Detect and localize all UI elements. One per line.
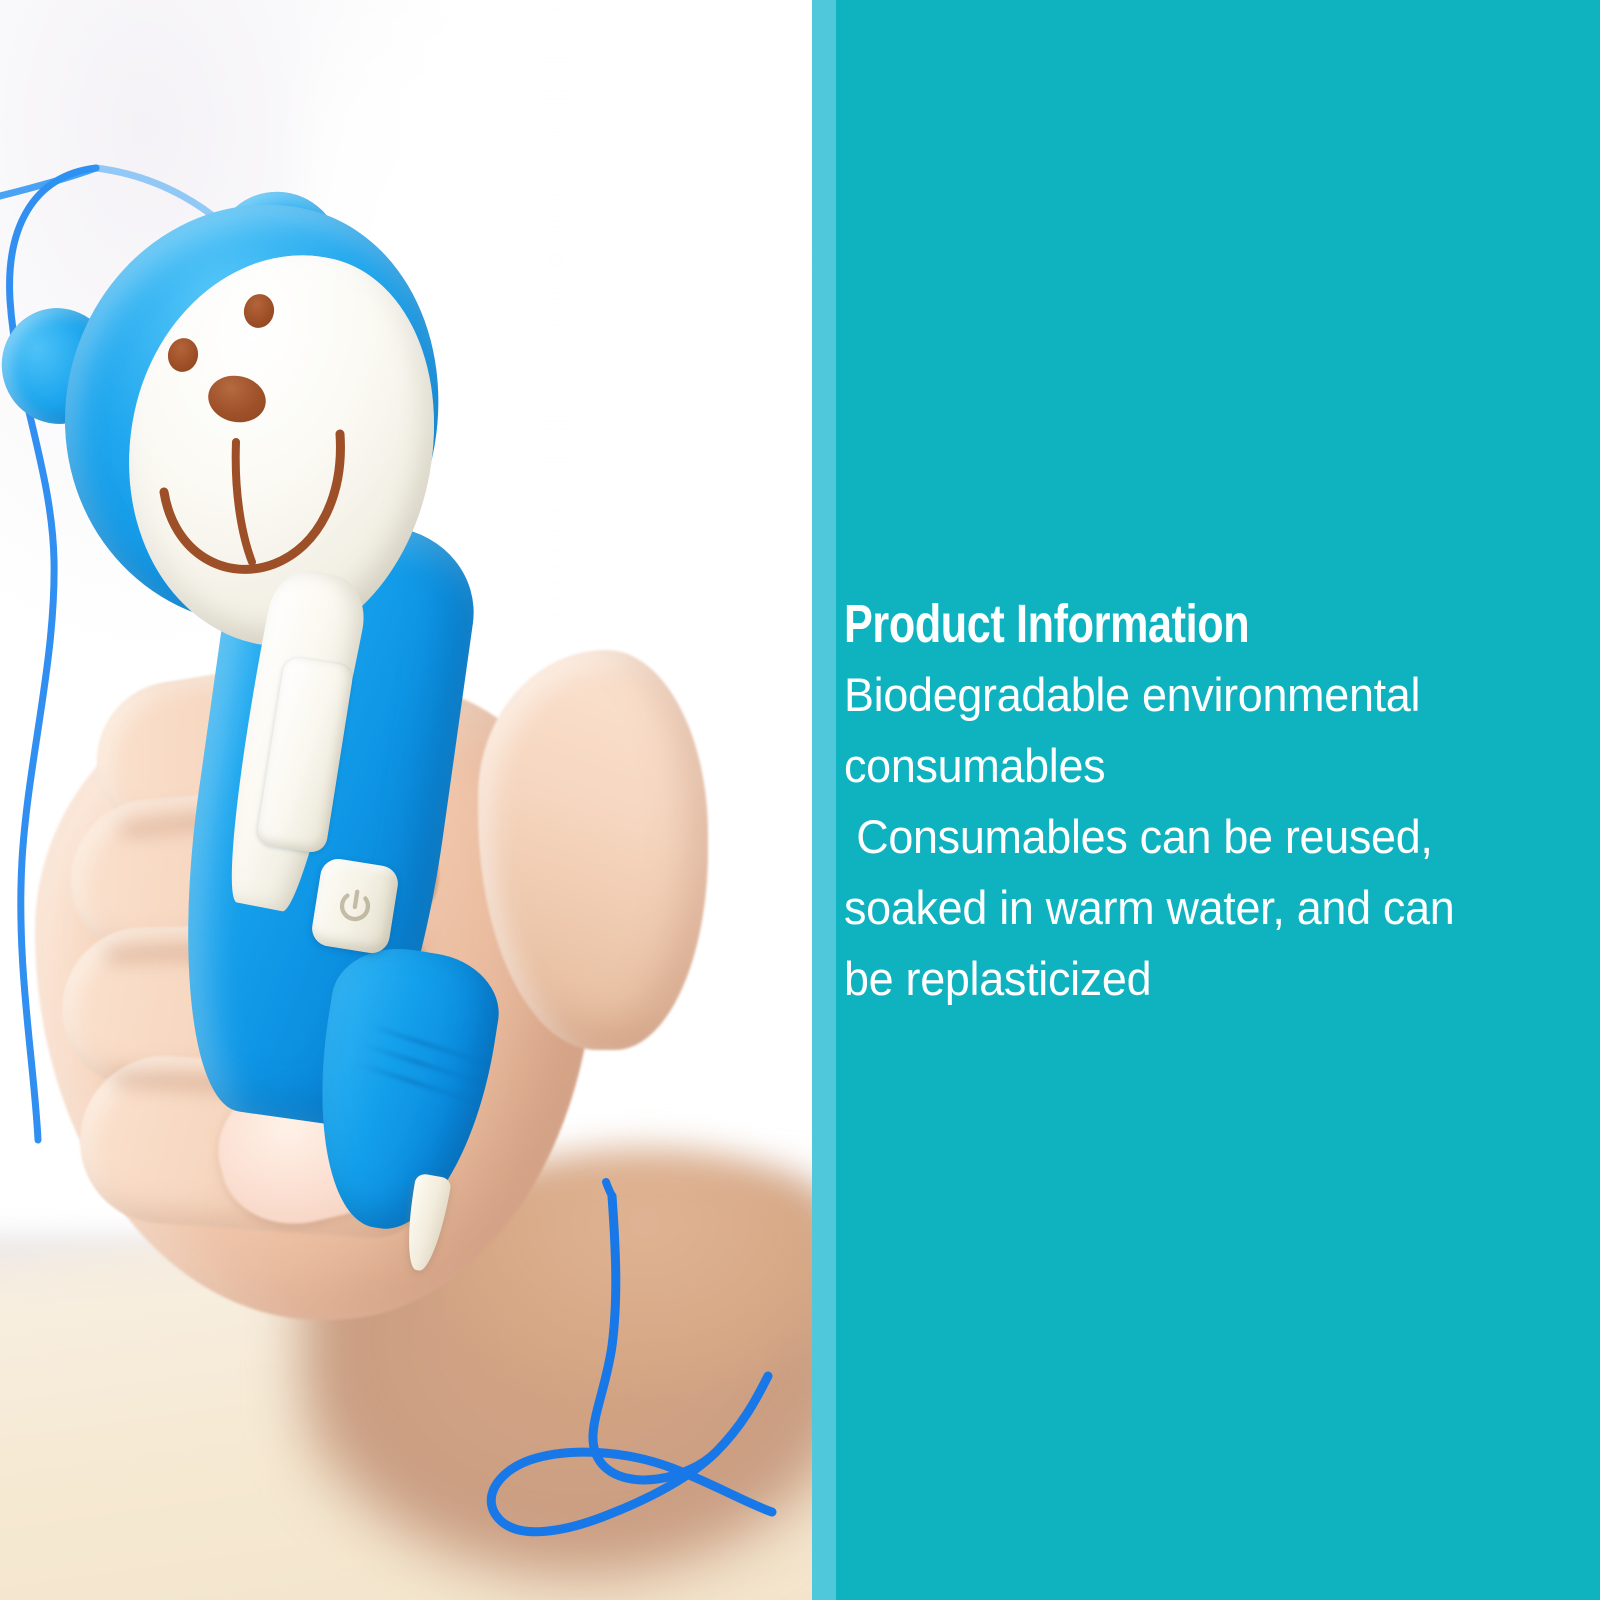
power-icon: [329, 880, 382, 933]
info-panel: Product Information Biodegradable enviro…: [836, 0, 1600, 1600]
pen-body: [48, 190, 478, 1230]
info-panel-title: Product Information: [844, 596, 1446, 653]
3d-pen: [0, 170, 700, 1250]
power-button[interactable]: [310, 856, 401, 955]
bear-smile-icon: [134, 386, 394, 616]
product-photo: [0, 0, 812, 1600]
accent-band: [812, 0, 836, 1600]
info-content: Product Information Biodegradable enviro…: [844, 596, 1596, 1014]
info-body-text: Biodegradable environmental consumables …: [844, 659, 1562, 1014]
info-panel-body: Biodegradable environmental consumables …: [844, 659, 1562, 1014]
product-marketing-image: Product Information Biodegradable enviro…: [0, 0, 1600, 1600]
